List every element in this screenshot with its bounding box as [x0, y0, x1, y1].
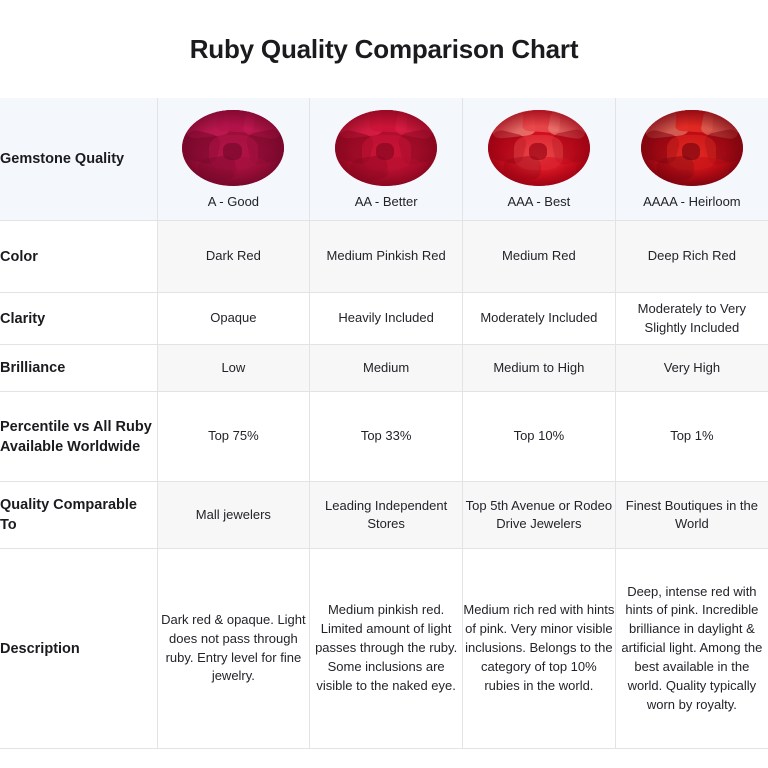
cell-brilliance-a: Low — [157, 345, 310, 392]
cell-clarity-aaa: Moderately Included — [463, 293, 616, 345]
cell-percentile-aaaa: Top 1% — [615, 392, 768, 482]
gem-label-aaaa: AAAA - Heirloom — [643, 194, 741, 209]
ruby-gem-aaaa-icon — [641, 110, 743, 186]
ruby-gem-aaa-icon — [488, 110, 590, 186]
cell-quality-aa: Leading Independent Stores — [310, 482, 463, 549]
cell-percentile-aa: Top 33% — [310, 392, 463, 482]
ruby-gem-aa-icon — [335, 110, 437, 186]
cell-color-aa: Medium Pinkish Red — [310, 221, 463, 293]
cell-color-aaaa: Deep Rich Red — [615, 221, 768, 293]
row-label-quality-comparable-to: Quality Comparable To — [0, 482, 157, 549]
gem-label-a: A - Good — [208, 194, 259, 209]
table-row-clarity: Clarity Opaque Heavily Included Moderate… — [0, 293, 768, 345]
row-label-brilliance: Brilliance — [0, 345, 157, 392]
cell-percentile-aaa: Top 10% — [463, 392, 616, 482]
row-label-gemstone-quality: Gemstone Quality — [0, 98, 157, 221]
table-row-percentile: Percentile vs All Ruby Available Worldwi… — [0, 392, 768, 482]
cell-clarity-aaaa: Moderately to Very Slightly Included — [615, 293, 768, 345]
row-label-color: Color — [0, 221, 157, 293]
table-row-brilliance: Brilliance Low Medium Medium to High Ver… — [0, 345, 768, 392]
page-title-bar: Ruby Quality Comparison Chart — [0, 0, 768, 98]
cell-brilliance-aaaa: Very High — [615, 345, 768, 392]
cell-color-aaa: Medium Red — [463, 221, 616, 293]
gem-cell-aaa: AAA - Best — [463, 98, 616, 221]
cell-description-aa: Medium pinkish red. Limited amount of li… — [310, 549, 463, 749]
cell-color-a: Dark Red — [157, 221, 310, 293]
row-label-clarity: Clarity — [0, 293, 157, 345]
cell-quality-aaaa: Finest Boutiques in the World — [615, 482, 768, 549]
row-label-percentile: Percentile vs All Ruby Available Worldwi… — [0, 392, 157, 482]
cell-brilliance-aaa: Medium to High — [463, 345, 616, 392]
table-row-gemstone-quality: Gemstone Quality A - Good AA - Better — [0, 98, 768, 221]
cell-clarity-a: Opaque — [157, 293, 310, 345]
cell-description-a: Dark red & opaque. Light does not pass t… — [157, 549, 310, 749]
row-label-description: Description — [0, 549, 157, 749]
cell-quality-a: Mall jewelers — [157, 482, 310, 549]
page-title: Ruby Quality Comparison Chart — [190, 34, 579, 65]
gem-cell-a: A - Good — [157, 98, 310, 221]
ruby-quality-comparison-page: Ruby Quality Comparison Chart Gemstone Q… — [0, 0, 768, 768]
cell-quality-aaa: Top 5th Avenue or Rodeo Drive Jewelers — [463, 482, 616, 549]
gem-label-aa: AA - Better — [355, 194, 418, 209]
cell-percentile-a: Top 75% — [157, 392, 310, 482]
gem-cell-aaaa: AAAA - Heirloom — [615, 98, 768, 221]
cell-brilliance-aa: Medium — [310, 345, 463, 392]
table-row-color: Color Dark Red Medium Pinkish Red Medium… — [0, 221, 768, 293]
table-row-quality-comparable-to: Quality Comparable To Mall jewelers Lead… — [0, 482, 768, 549]
cell-clarity-aa: Heavily Included — [310, 293, 463, 345]
gem-cell-aa: AA - Better — [310, 98, 463, 221]
ruby-gem-a-icon — [182, 110, 284, 186]
cell-description-aaaa: Deep, intense red with hints of pink. In… — [615, 549, 768, 749]
cell-description-aaa: Medium rich red with hints of pink. Very… — [463, 549, 616, 749]
gem-label-aaa: AAA - Best — [507, 194, 570, 209]
ruby-comparison-table: Gemstone Quality A - Good AA - Better — [0, 98, 768, 749]
table-row-description: Description Dark red & opaque. Light doe… — [0, 549, 768, 749]
